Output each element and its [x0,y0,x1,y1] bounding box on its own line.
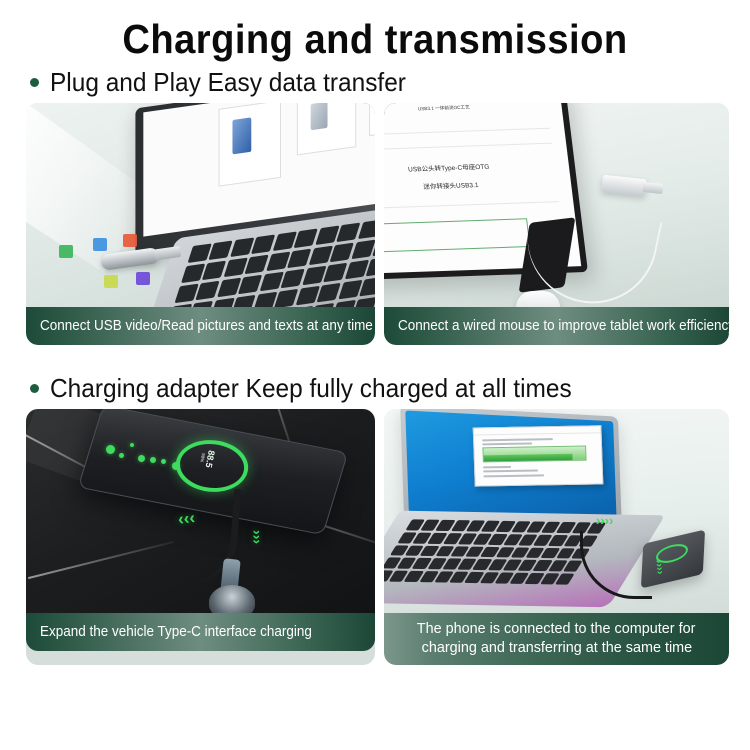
tablet-screen-title-line2: 迷你转接头USB3.1 [384,178,552,195]
screen-thumbnail [370,103,375,136]
screen-thumbnail [219,103,281,186]
photo-tablet-mouse: USB3.1 一体前流OC工艺 USB公头转Type-C母座OTG 迷你转接头U… [384,103,729,307]
page-title: Charging and transmission [26,0,724,63]
panel-caption-text: Connect a wired mouse to improve tablet … [398,318,729,334]
photo-laptop-phone: ›››› ›››› [384,409,729,613]
file-icon-green [59,245,73,258]
panel-caption: Expand the vehicle Type-C interface char… [26,613,375,651]
usb-image-icon [310,103,327,131]
file-icon-blue [93,238,107,251]
panel-caption-text-line1: The phone is connected to the computer f… [417,620,696,639]
progress-bar [482,445,586,462]
car-charger-socket [209,585,255,613]
panel-grid-section-1: Connect USB video/Read pictures and text… [0,103,750,345]
panel-usb-video[interactable]: Connect USB video/Read pictures and text… [26,103,375,345]
file-icon-yellow [104,275,118,288]
energy-arrow-icon: ›››› [653,559,666,575]
dialog-title-bar [473,426,600,436]
panel-vehicle-charging[interactable]: 88.5 98% ‹‹‹ ‹‹‹ Expand the vehicle Type… [26,409,375,665]
tablet-screen-top-text: USB3.1 一体前流OC工艺 [384,103,538,114]
panel-caption: The phone is connected to the computer f… [384,613,729,665]
panel-caption-text: Expand the vehicle Type-C interface char… [40,624,312,640]
section-heading-charging-adapter: Charging adapter Keep fully charged at a… [0,369,750,409]
panel-caption: Connect a wired mouse to improve tablet … [384,307,729,345]
laptop-keyboard [384,519,606,584]
bullet-icon [30,384,39,393]
panel-phone-to-computer[interactable]: ›››› ›››› The phone is connected to the … [384,409,729,665]
file-icon-purple [136,272,150,285]
file-icon-red [123,234,137,247]
usb-otg-adapter [601,175,647,197]
panel-caption-text-line2: charging and transferring at the same ti… [421,639,692,658]
panel-grid-section-2: 88.5 98% ‹‹‹ ‹‹‹ Expand the vehicle Type… [0,409,750,665]
panel-caption: Connect USB video/Read pictures and text… [26,307,375,345]
photo-car-phone-charging: 88.5 98% ‹‹‹ ‹‹‹ [26,409,375,613]
tablet-screen-highlight-box [384,218,531,253]
wired-mouse [516,291,560,307]
laptop-screen [405,410,616,523]
photo-laptop-usb [26,103,375,307]
bullet-icon [30,78,39,87]
energy-arrow-icon: ‹‹‹ [177,508,196,530]
section-heading-data-transfer: Plug and Play Easy data transfer [0,63,750,103]
panel-wired-mouse[interactable]: USB3.1 一体前流OC工艺 USB公头转Type-C母座OTG 迷你转接头U… [384,103,729,345]
energy-arrow-icon: ›››› [596,513,613,528]
panel-caption-text: Connect USB video/Read pictures and text… [40,318,373,334]
section-heading-label: Charging adapter Keep fully charged at a… [50,373,572,404]
usb-image-icon [233,118,251,155]
energy-arrow-icon: ‹‹‹ [247,530,263,544]
screen-thumbnail [297,103,356,155]
tablet-screen-title-line1: USB公头转Type-C母座OTG [384,160,550,177]
charge-value-label: 88.5 98% [198,448,216,468]
section-heading-label: Plug and Play Easy data transfer [50,67,406,98]
file-transfer-dialog [472,425,603,487]
